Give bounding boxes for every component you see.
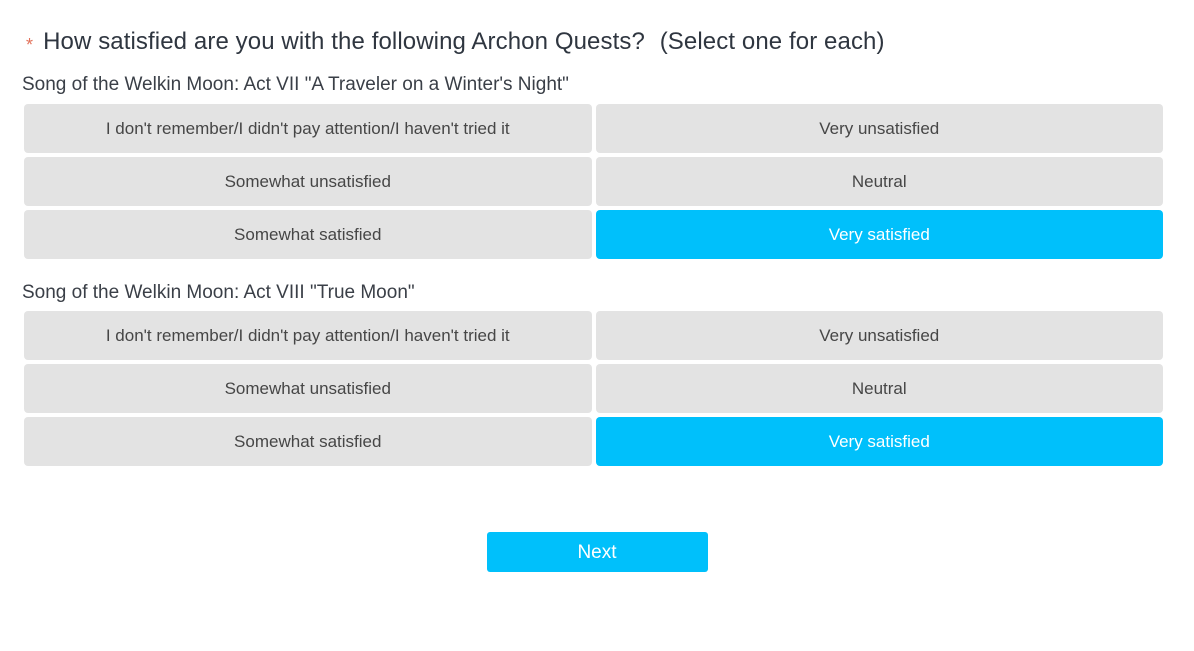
- group-label-1: Song of the Welkin Moon: Act VII "A Trav…: [0, 57, 1194, 104]
- footer: Next: [0, 532, 1194, 572]
- option-button[interactable]: Somewhat satisfied: [24, 417, 592, 466]
- option-button[interactable]: Somewhat satisfied: [24, 210, 592, 259]
- option-button[interactable]: Neutral: [596, 364, 1164, 413]
- options-grid-2: I don't remember/I didn't pay attention/…: [24, 311, 1163, 466]
- option-button-selected[interactable]: Very satisfied: [596, 210, 1164, 259]
- option-button[interactable]: Very unsatisfied: [596, 311, 1164, 360]
- option-button[interactable]: I don't remember/I didn't pay attention/…: [24, 104, 592, 153]
- option-button[interactable]: Somewhat unsatisfied: [24, 157, 592, 206]
- option-button[interactable]: Very unsatisfied: [596, 104, 1164, 153]
- next-button[interactable]: Next: [487, 532, 708, 572]
- option-button-selected[interactable]: Very satisfied: [596, 417, 1164, 466]
- page-title: How satisfied are you with the following…: [43, 28, 884, 57]
- matrix-group-2: Song of the Welkin Moon: Act VIII "True …: [0, 259, 1194, 467]
- question-text: How satisfied are you with the following…: [43, 28, 645, 55]
- group-label-2: Song of the Welkin Moon: Act VIII "True …: [0, 259, 1194, 312]
- option-button[interactable]: Somewhat unsatisfied: [24, 364, 592, 413]
- question-header: * How satisfied are you with the followi…: [0, 0, 1194, 57]
- question-hint: (Select one for each): [660, 28, 885, 55]
- survey-page: * How satisfied are you with the followi…: [0, 0, 1194, 651]
- required-asterisk-icon: *: [26, 36, 33, 54]
- option-button[interactable]: Neutral: [596, 157, 1164, 206]
- option-button[interactable]: I don't remember/I didn't pay attention/…: [24, 311, 592, 360]
- matrix-group-1: Song of the Welkin Moon: Act VII "A Trav…: [0, 57, 1194, 259]
- options-grid-1: I don't remember/I didn't pay attention/…: [24, 104, 1163, 259]
